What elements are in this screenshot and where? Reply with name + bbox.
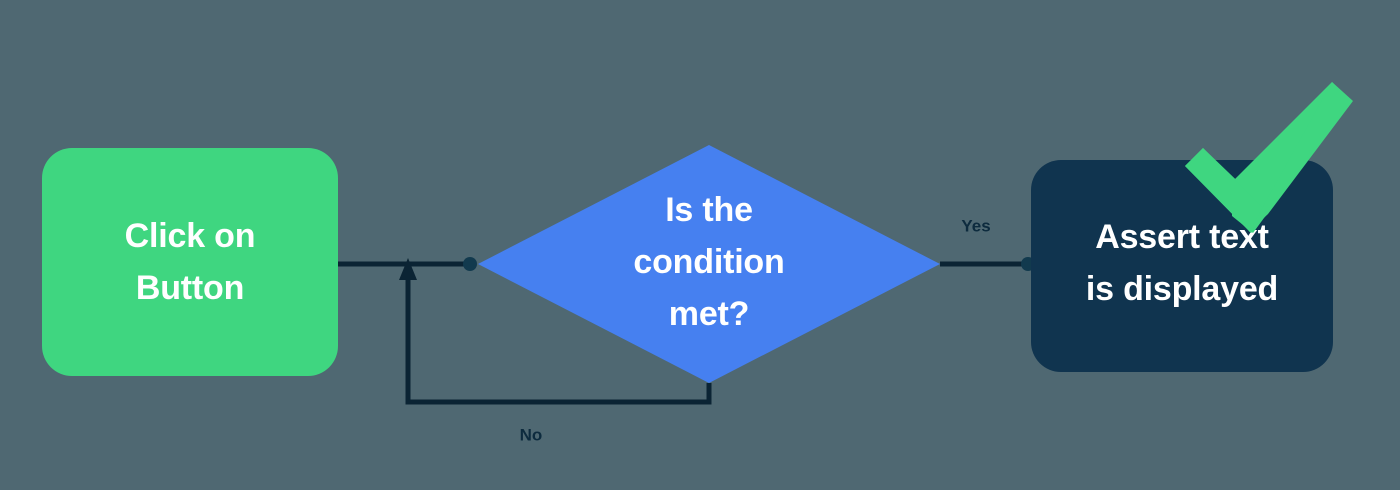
edge-no-arrowhead (399, 258, 417, 280)
node-condition-label: Is the (665, 191, 753, 229)
node-assert-text-shape (1031, 160, 1333, 372)
node-assert-text[interactable]: Assert text is displayed (1031, 160, 1333, 372)
edge-label-no: No (520, 425, 543, 444)
flowchart-canvas: Click on Button Is the condition met? As… (0, 0, 1400, 490)
node-click-on-button-label-2: Button (136, 269, 244, 307)
node-condition-decision[interactable]: Is the condition met? (478, 145, 940, 383)
node-click-on-button-shape (42, 148, 338, 376)
node-condition-label-2: condition (633, 243, 784, 281)
node-condition-label-3: met? (669, 295, 749, 333)
edge-endpoint-dot-condition-in (463, 257, 477, 271)
flowchart-diagram: Click on Button Is the condition met? As… (0, 0, 1400, 490)
edge-label-yes: Yes (961, 216, 990, 235)
node-click-on-button[interactable]: Click on Button (42, 148, 338, 376)
node-assert-text-label-2: is displayed (1086, 270, 1278, 308)
node-click-on-button-label: Click on (125, 217, 256, 255)
